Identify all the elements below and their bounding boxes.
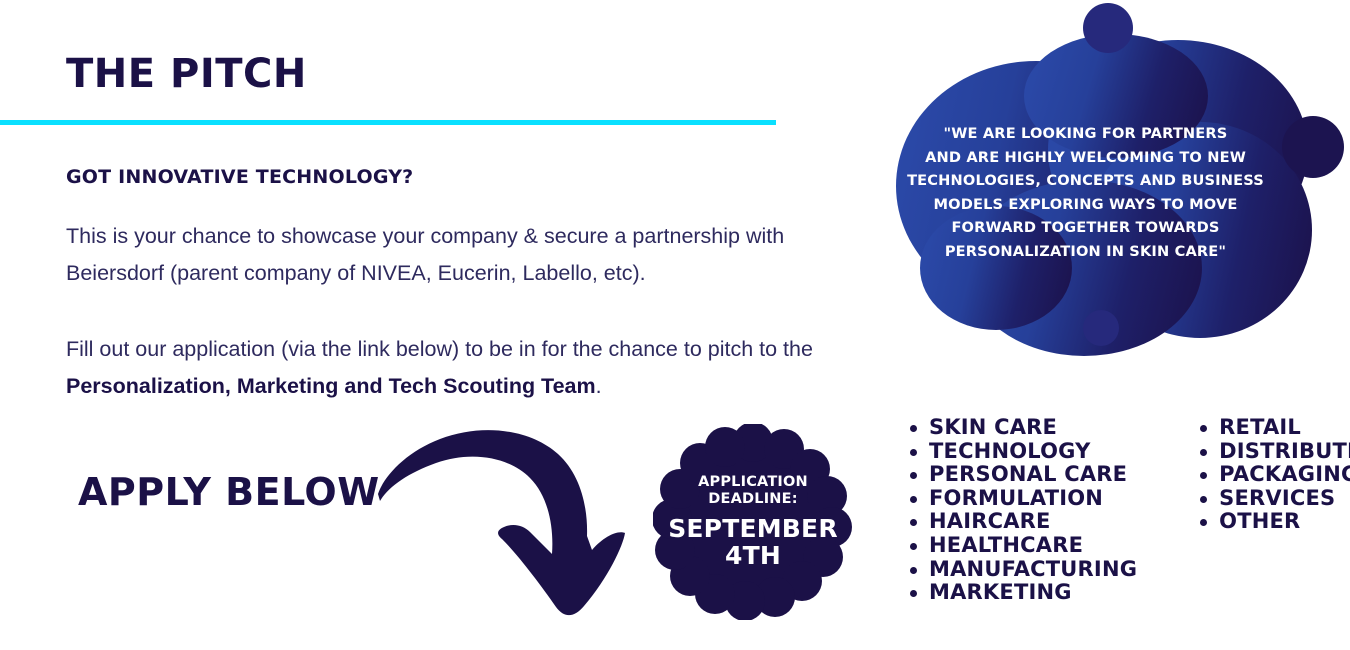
paragraph-2-lead: Fill out our application (via the link b… [66, 337, 813, 361]
category-list-item: OTHER [1195, 510, 1350, 534]
category-list-item: HEALTHCARE [905, 534, 1137, 558]
body-paragraph-2: Fill out our application (via the link b… [66, 331, 881, 405]
blob-dot-bottom [1083, 310, 1119, 346]
category-list-item: SERVICES [1195, 487, 1350, 511]
category-list-item: TECHNOLOGY [905, 440, 1137, 464]
pitch-slide: THE PITCH GOT INNOVATIVE TECHNOLOGY? Thi… [0, 0, 1350, 650]
category-list-item: HAIRCARE [905, 510, 1137, 534]
category-list-item: MARKETING [905, 581, 1137, 605]
blob-dot-right [1282, 116, 1344, 178]
curved-down-arrow-icon [378, 424, 642, 620]
title-block: THE PITCH [66, 52, 307, 96]
category-list-item: PACKAGING [1195, 463, 1350, 487]
paragraph-2-tail: . [596, 374, 602, 398]
category-column-1: SKIN CARETECHNOLOGYPERSONAL CAREFORMULAT… [905, 416, 1137, 605]
title-underline-rule [0, 120, 776, 125]
apply-below-heading: APPLY BELOW [78, 470, 380, 514]
category-lists: SKIN CARETECHNOLOGYPERSONAL CAREFORMULAT… [905, 416, 1350, 605]
category-list-item: MANUFACTURING [905, 558, 1137, 582]
category-list-item: PERSONAL CARE [905, 463, 1137, 487]
blob-dot-top [1083, 3, 1133, 53]
body-paragraph-1: This is your chance to showcase your com… [66, 218, 881, 292]
category-list-item: FORMULATION [905, 487, 1137, 511]
category-list-item: SKIN CARE [905, 416, 1137, 440]
category-list-item: RETAIL [1195, 416, 1350, 440]
subheading: GOT INNOVATIVE TECHNOLOGY? [66, 166, 413, 188]
paragraph-2-emphasis: Personalization, Marketing and Tech Scou… [66, 374, 596, 398]
category-column-2: RETAILDISTRIBUTIONPACKAGINGSERVICESOTHER [1195, 416, 1350, 605]
application-deadline-seal: APPLICATION DEADLINE: SEPTEMBER 4TH [653, 424, 853, 620]
category-list-item: DISTRIBUTION [1195, 440, 1350, 464]
page-title: THE PITCH [66, 52, 307, 96]
partner-quote-text: "WE ARE LOOKING FOR PARTNERS AND ARE HIG… [898, 122, 1273, 263]
seal-scalloped-shape [653, 424, 852, 620]
